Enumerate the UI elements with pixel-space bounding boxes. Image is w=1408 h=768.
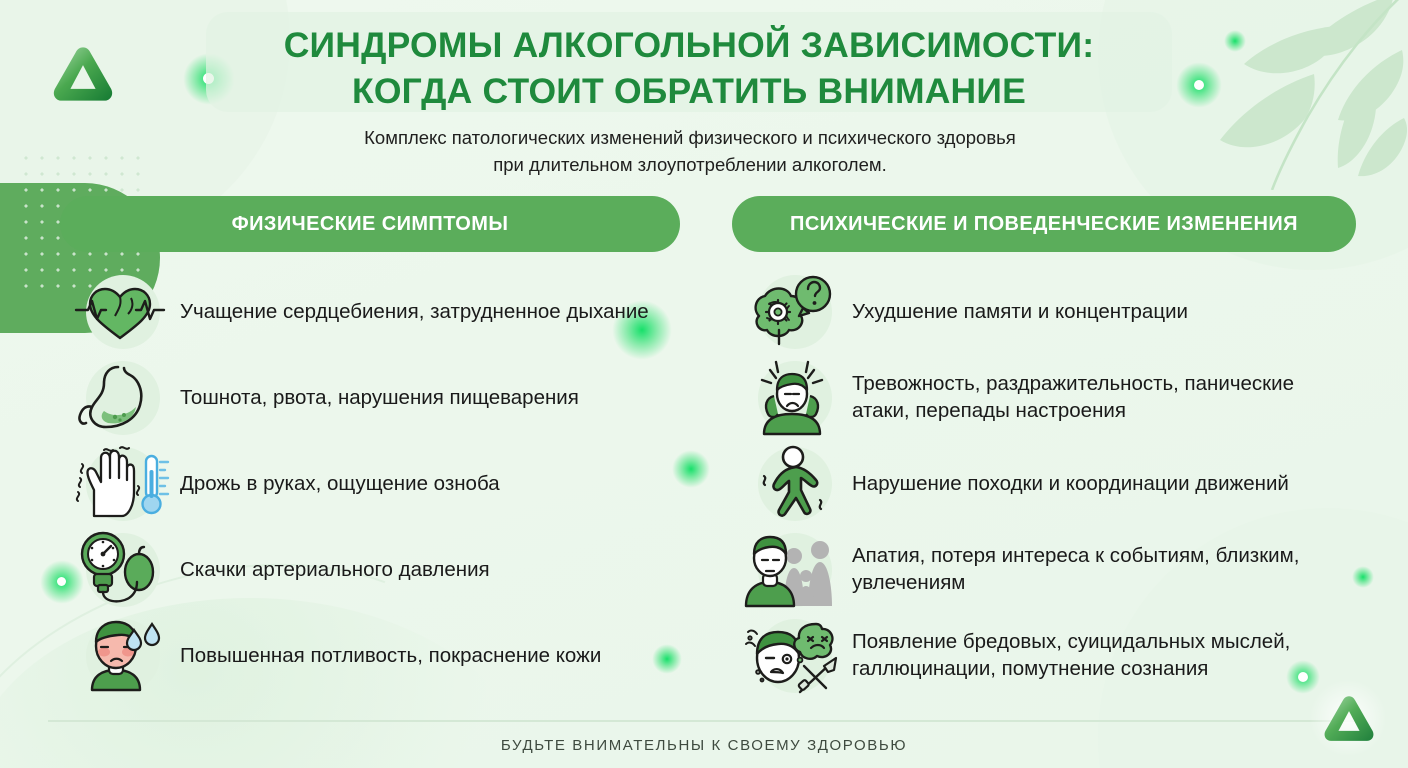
icon-slot <box>732 441 852 525</box>
icon-slot <box>60 613 180 697</box>
list-item: Дрожь в руках, ощущение озноба <box>60 440 680 526</box>
list-item-label: Нарушение походки и координации движений <box>852 470 1356 497</box>
page-subtitle-line2: при длительном злоупотреблении алкоголем… <box>204 151 1176 178</box>
page-title-line1: СИНДРОМЫ АЛКОГОЛЬНОЙ ЗАВИСИМОСТИ: <box>206 22 1172 68</box>
mental-symptom-list: Ухудшение памяти и концентрации <box>732 268 1356 698</box>
icon-slot <box>732 613 852 697</box>
glow-dot <box>1224 30 1246 52</box>
apathy-family-icon <box>742 530 842 608</box>
page-subtitle-line1: Комплекс патологических изменений физиче… <box>204 124 1176 151</box>
list-item-label: Появление бредовых, суицидальных мыслей,… <box>852 628 1356 682</box>
list-item: Тошнота, рвота, нарушения пищеварения <box>60 354 680 440</box>
sweating-face-icon <box>74 616 166 694</box>
footer-divider <box>48 720 1360 722</box>
walking-person-icon <box>748 444 836 522</box>
triangle-logo <box>46 40 120 114</box>
brain-gear-question-icon <box>745 274 839 348</box>
column-mental-symptoms: ПСИХИЧЕСКИЕ И ПОВЕДЕНЧЕСКИЕ ИЗМЕНЕНИЯ <box>732 196 1356 698</box>
icon-slot <box>732 269 852 353</box>
list-item-label: Повышенная потливость, покраснение кожи <box>180 642 680 669</box>
list-item: Появление бредовых, суицидальных мыслей,… <box>732 612 1356 698</box>
icon-slot <box>60 269 180 353</box>
page-title: СИНДРОМЫ АЛКОГОЛЬНОЙ ЗАВИСИМОСТИ: КОГДА … <box>206 22 1172 114</box>
trembling-hand-thermometer-icon <box>70 446 170 520</box>
blood-pressure-monitor-icon <box>73 530 167 608</box>
page-title-line2: КОГДА СТОИТ ОБРАТИТЬ ВНИМАНИЕ <box>206 68 1172 114</box>
glow-dot-core <box>1194 80 1204 90</box>
delusion-face-icon <box>742 616 842 694</box>
icon-slot <box>732 527 852 611</box>
leaf-branch-icon <box>1198 0 1408 190</box>
heart-pulse-icon <box>74 276 166 346</box>
triangle-logo <box>1318 690 1380 752</box>
icon-slot <box>732 355 852 439</box>
column-physical-symptoms: ФИЗИЧЕСКИЕ СИМПТОМЫ Учащение сердцебиени… <box>60 196 680 698</box>
list-item: Учащение сердцебиения, затрудненное дыха… <box>60 268 680 354</box>
anxious-person-icon <box>746 358 838 436</box>
list-item-label: Учащение сердцебиения, затрудненное дыха… <box>180 298 680 325</box>
list-item-label: Тревожность, раздражительность, паническ… <box>852 370 1356 424</box>
physical-symptom-list: Учащение сердцебиения, затрудненное дыха… <box>60 268 680 698</box>
list-item: Скачки артериального давления <box>60 526 680 612</box>
stomach-icon <box>74 361 166 433</box>
icon-slot <box>60 355 180 439</box>
section-heading-physical: ФИЗИЧЕСКИЕ СИМПТОМЫ <box>60 196 680 252</box>
page-subtitle: Комплекс патологических изменений физиче… <box>204 124 1176 178</box>
list-item-label: Тошнота, рвота, нарушения пищеварения <box>180 384 680 411</box>
infographic-canvas: СИНДРОМЫ АЛКОГОЛЬНОЙ ЗАВИСИМОСТИ: КОГДА … <box>0 0 1408 768</box>
list-item-label: Дрожь в руках, ощущение озноба <box>180 470 680 497</box>
list-item-label: Апатия, потеря интереса к событиям, близ… <box>852 542 1356 596</box>
list-item: Ухудшение памяти и концентрации <box>732 268 1356 354</box>
list-item: Апатия, потеря интереса к событиям, близ… <box>732 526 1356 612</box>
list-item-label: Скачки артериального давления <box>180 556 680 583</box>
section-heading-mental: ПСИХИЧЕСКИЕ И ПОВЕДЕНЧЕСКИЕ ИЗМЕНЕНИЯ <box>732 196 1356 252</box>
footer-tagline: БУДЬТЕ ВНИМАТЕЛЬНЫ К СВОЕМУ ЗДОРОВЬЮ <box>0 737 1408 754</box>
icon-slot <box>60 441 180 525</box>
list-item-label: Ухудшение памяти и концентрации <box>852 298 1356 325</box>
list-item: Повышенная потливость, покраснение кожи <box>60 612 680 698</box>
list-item: Нарушение походки и координации движений <box>732 440 1356 526</box>
list-item: Тревожность, раздражительность, паническ… <box>732 354 1356 440</box>
icon-slot <box>60 527 180 611</box>
